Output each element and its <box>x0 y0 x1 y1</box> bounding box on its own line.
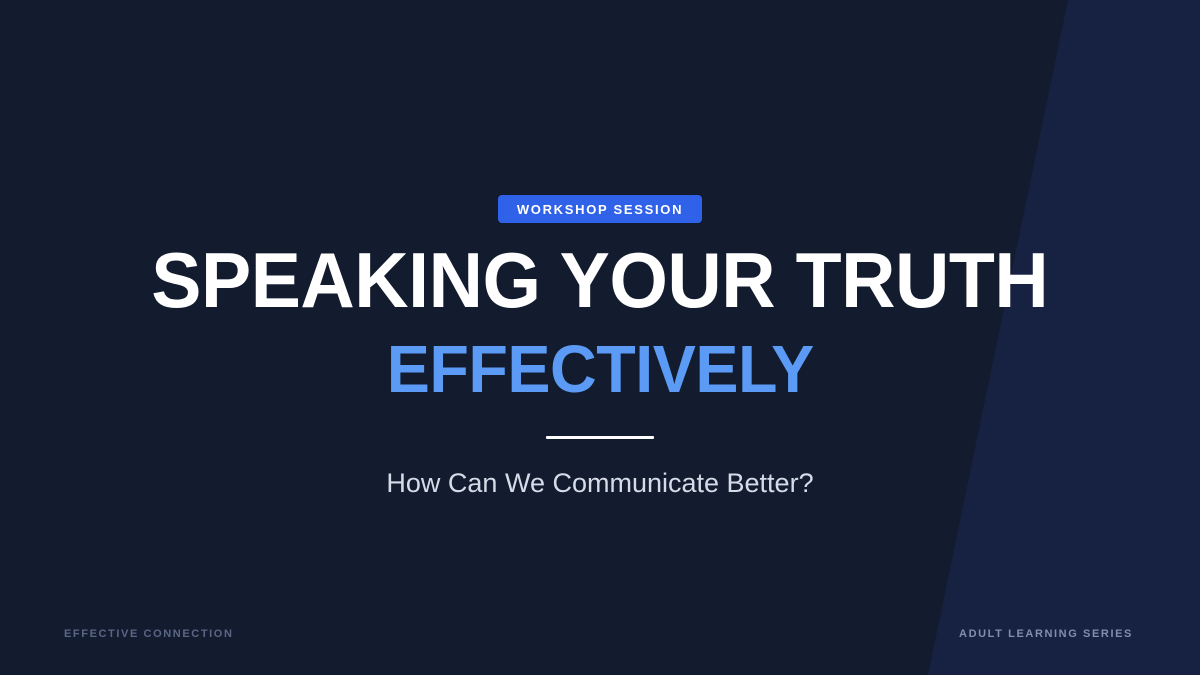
workshop-session-badge: WORKSHOP SESSION <box>498 195 702 223</box>
slide-title-accent: EFFECTIVELY <box>386 336 813 403</box>
slide-content: WORKSHOP SESSION SPEAKING YOUR TRUTH EFF… <box>0 0 1200 675</box>
footer-brand-label: EFFECTIVE CONNECTION <box>64 628 234 640</box>
slide-title-primary: SPEAKING YOUR TRUTH <box>152 241 1049 319</box>
slide-subtitle: How Can We Communicate Better? <box>386 467 813 499</box>
presentation-slide: WORKSHOP SESSION SPEAKING YOUR TRUTH EFF… <box>0 0 1200 675</box>
footer-series-label: ADULT LEARNING SERIES <box>959 628 1133 640</box>
title-divider <box>546 436 654 439</box>
